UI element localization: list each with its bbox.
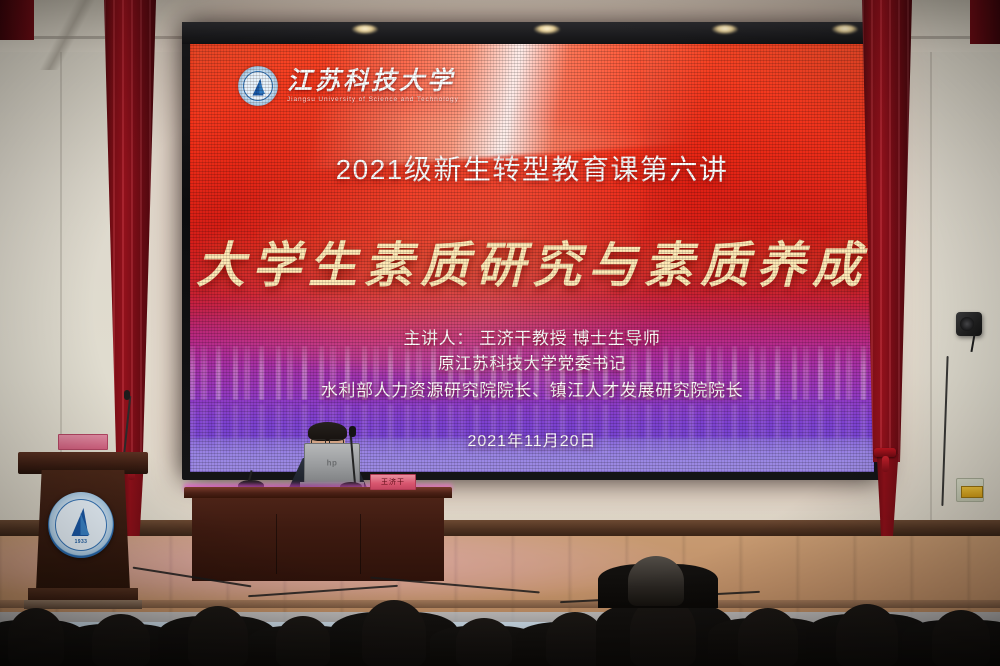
led-screen-display: 江苏科技大学 Jiangsu University of Science and…: [190, 44, 874, 472]
university-seal-icon: [238, 66, 278, 106]
fire-alarm-call-point[interactable]: [956, 478, 984, 502]
speaker-line-3: 水利部人力资源研究院院长、镇江人才发展研究院院长: [190, 378, 874, 404]
laptop-brand-logo: hp: [327, 459, 338, 468]
curtain-far-right: [970, 0, 1000, 44]
university-logo: 江苏科技大学 Jiangsu University of Science and…: [238, 66, 459, 106]
podium-sailboat-secondary-icon: [80, 513, 89, 535]
university-name-en: Jiangsu University of Science and Techno…: [287, 96, 459, 103]
downlight-1: [352, 25, 378, 34]
sailboat-secondary-icon: [259, 80, 265, 94]
podium-plaque: [58, 434, 108, 450]
podium-emblem-icon: 1933: [48, 492, 114, 558]
downlight-2: [534, 25, 560, 34]
curtain-right-tassel: [882, 456, 889, 472]
wall-seam-right: [930, 52, 932, 522]
led-screen-frame: 江苏科技大学 Jiangsu University of Science and…: [182, 22, 882, 480]
downlight-3: [712, 25, 738, 34]
desk-microphone-icon: [349, 426, 356, 437]
audience-head: [188, 606, 248, 666]
desk-nameplate: 王济干: [370, 474, 416, 490]
speaker-line-2: 原江苏科技大学党委书记: [190, 352, 874, 378]
curtain-far-left: [0, 0, 34, 40]
audience-head: [8, 608, 64, 666]
audience-head: [456, 618, 512, 666]
podium-emblem-year: 1933: [48, 539, 114, 545]
downlight-4: [832, 25, 858, 34]
slide-subject-line: 2021级新生转型教育课第六讲: [190, 148, 874, 188]
audience-head: [362, 600, 426, 666]
audience-head: [836, 604, 898, 666]
slide-speaker-block: 主讲人： 王济干教授 博士生导师 原江苏科技大学党委书记 水利部人力资源研究院院…: [190, 326, 874, 404]
university-name-cn: 江苏科技大学: [287, 69, 459, 95]
lecture-hall-photo: 江苏科技大学 Jiangsu University of Science and…: [0, 0, 1000, 666]
audience-head: [932, 610, 990, 666]
led-slide-content: 江苏科技大学 Jiangsu University of Science and…: [190, 44, 874, 472]
wall-baseboard: [0, 520, 1000, 536]
desk-nameplate-text: 王济干: [381, 477, 405, 487]
microphone-icon: [124, 390, 130, 400]
speaker-line-1: 主讲人： 王济干教授 博士生导师: [190, 326, 874, 352]
wall-speaker-icon: [956, 312, 982, 336]
slide-main-title: 大学生素质研究与素质养成: [190, 226, 874, 297]
led-screen-bezel: [182, 22, 882, 44]
audience-head: [92, 614, 150, 666]
audience-head: [738, 608, 798, 666]
audience-head-grey: [628, 556, 684, 606]
audience: [0, 562, 1000, 666]
audience-head: [276, 616, 330, 666]
